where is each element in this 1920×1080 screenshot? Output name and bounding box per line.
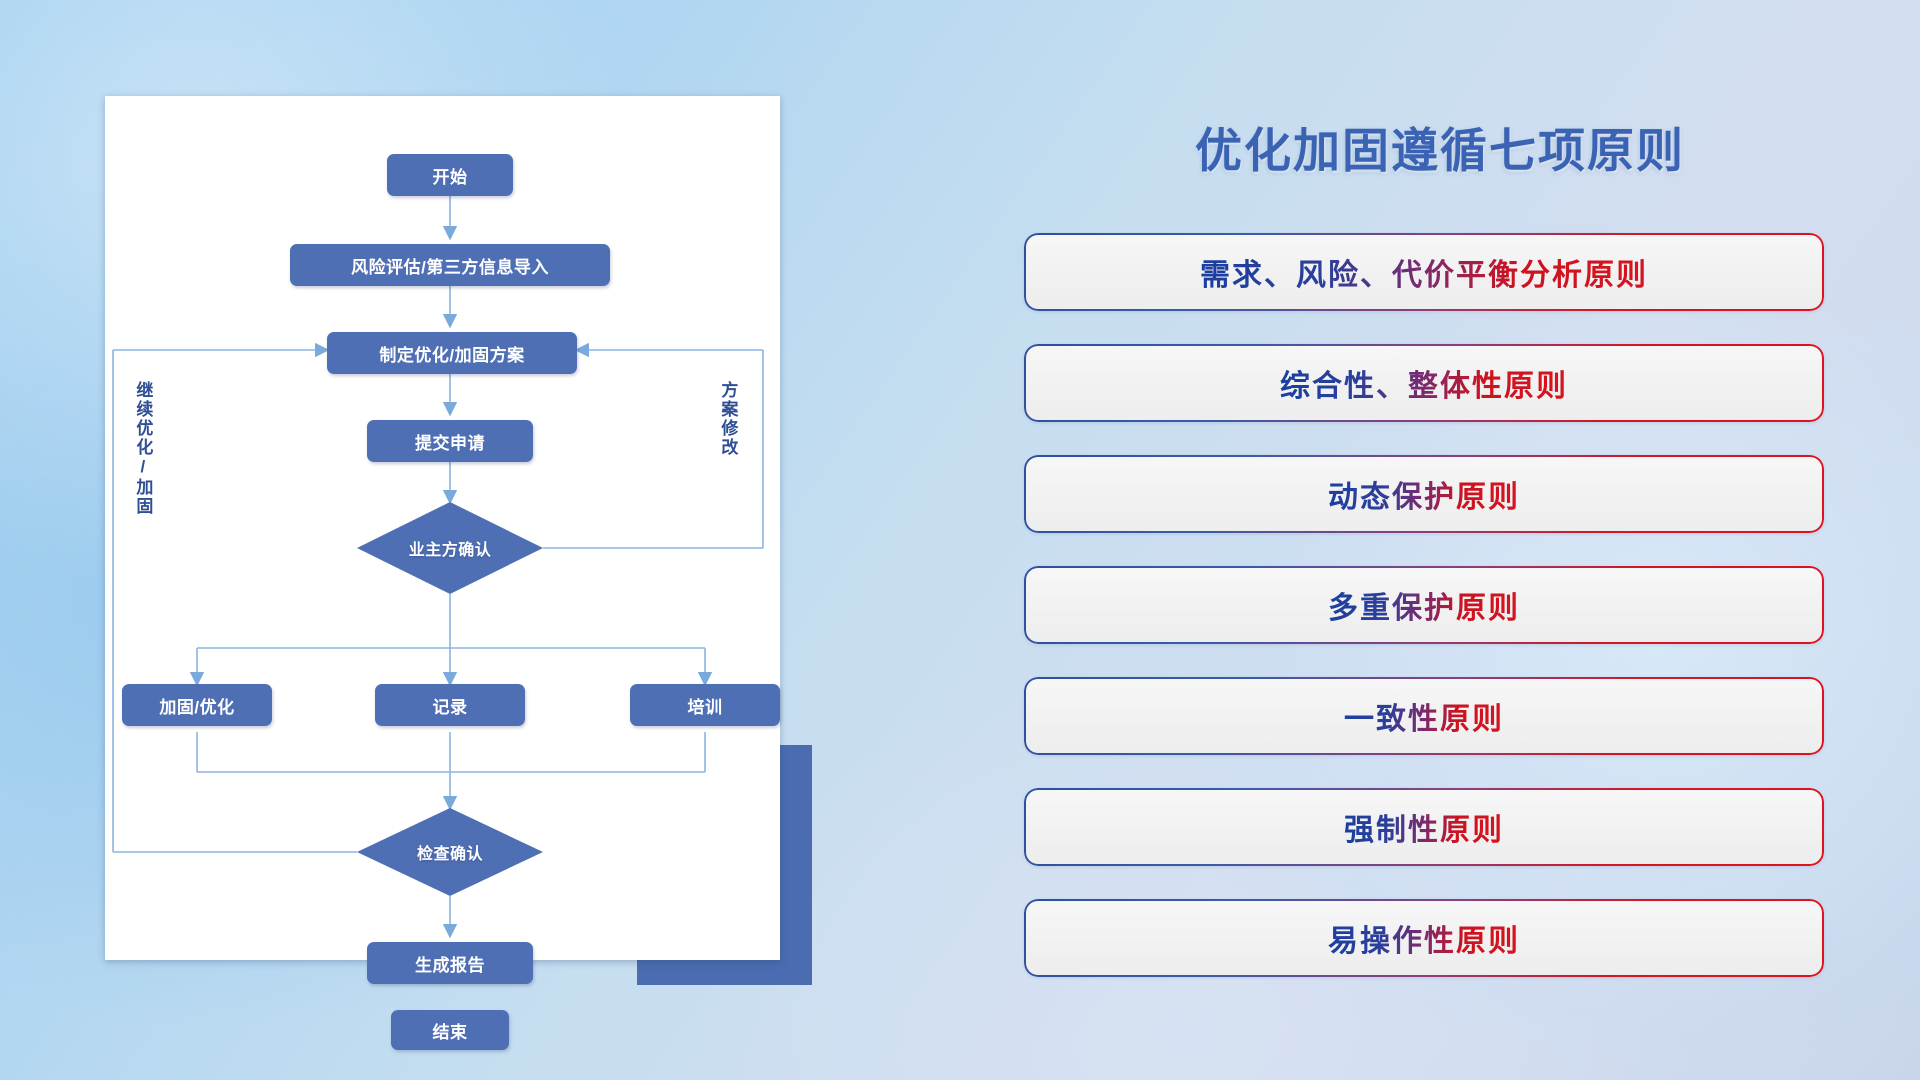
principle-label: 多重保护原则 — [1328, 583, 1520, 627]
flow-node-start[interactable]: 开始 — [387, 154, 513, 196]
edge-label-continue-optimize: 继续优化/加固 — [133, 381, 151, 516]
flow-node-label: 记录 — [433, 693, 468, 718]
slide-canvas: 开始 风险评估/第三方信息导入 制定优化/加固方案 提交申请 业主方确认 加固/… — [0, 0, 1920, 1080]
flow-node-risk-assessment[interactable]: 风险评估/第三方信息导入 — [290, 244, 610, 286]
flow-node-label: 结束 — [433, 1018, 468, 1043]
flow-node-label: 提交申请 — [415, 429, 485, 454]
flow-node-generate-report[interactable]: 生成报告 — [367, 942, 533, 984]
flow-node-submit-application[interactable]: 提交申请 — [367, 420, 533, 462]
flowchart: 开始 风险评估/第三方信息导入 制定优化/加固方案 提交申请 业主方确认 加固/… — [105, 96, 780, 960]
flow-node-reinforce-optimize[interactable]: 加固/优化 — [122, 684, 272, 726]
flow-node-label: 开始 — [433, 163, 468, 188]
flow-node-make-plan[interactable]: 制定优化/加固方案 — [327, 332, 577, 374]
principle-card[interactable]: 多重保护原则 — [1024, 566, 1824, 644]
edge-label-plan-revision: 方案修改 — [718, 381, 736, 457]
principle-label: 易操作性原则 — [1328, 916, 1520, 960]
flow-node-label: 加固/优化 — [159, 693, 234, 718]
flow-node-check-confirm[interactable]: 检查确认 — [357, 808, 543, 896]
principle-card[interactable]: 动态保护原则 — [1024, 455, 1824, 533]
principle-label: 综合性、整体性原则 — [1280, 361, 1568, 405]
flow-node-training[interactable]: 培训 — [630, 684, 780, 726]
principle-label: 需求、风险、代价平衡分析原则 — [1200, 250, 1648, 294]
principles-title: 优化加固遵循七项原则 — [1020, 112, 1860, 181]
flow-node-label: 制定优化/加固方案 — [379, 341, 524, 366]
principle-card[interactable]: 一致性原则 — [1024, 677, 1824, 755]
flow-node-owner-confirm[interactable]: 业主方确认 — [357, 502, 543, 594]
flow-node-label: 检查确认 — [357, 808, 543, 896]
flow-node-record[interactable]: 记录 — [375, 684, 525, 726]
flow-node-label: 风险评估/第三方信息导入 — [351, 253, 549, 278]
principle-card[interactable]: 易操作性原则 — [1024, 899, 1824, 977]
flowchart-panel: 开始 风险评估/第三方信息导入 制定优化/加固方案 提交申请 业主方确认 加固/… — [105, 96, 780, 960]
flow-node-label: 业主方确认 — [357, 502, 543, 594]
principle-label: 一致性原则 — [1344, 694, 1504, 738]
principle-card[interactable]: 综合性、整体性原则 — [1024, 344, 1824, 422]
principle-card[interactable]: 强制性原则 — [1024, 788, 1824, 866]
principle-label: 动态保护原则 — [1328, 472, 1520, 516]
principle-card[interactable]: 需求、风险、代价平衡分析原则 — [1024, 233, 1824, 311]
principle-label: 强制性原则 — [1344, 805, 1504, 849]
flow-node-label: 培训 — [688, 693, 723, 718]
principles-list: 需求、风险、代价平衡分析原则 综合性、整体性原则 动态保护原则 多重保护原则 一… — [1024, 233, 1824, 1010]
flow-node-end[interactable]: 结束 — [391, 1010, 509, 1050]
flow-node-label: 生成报告 — [415, 951, 485, 976]
